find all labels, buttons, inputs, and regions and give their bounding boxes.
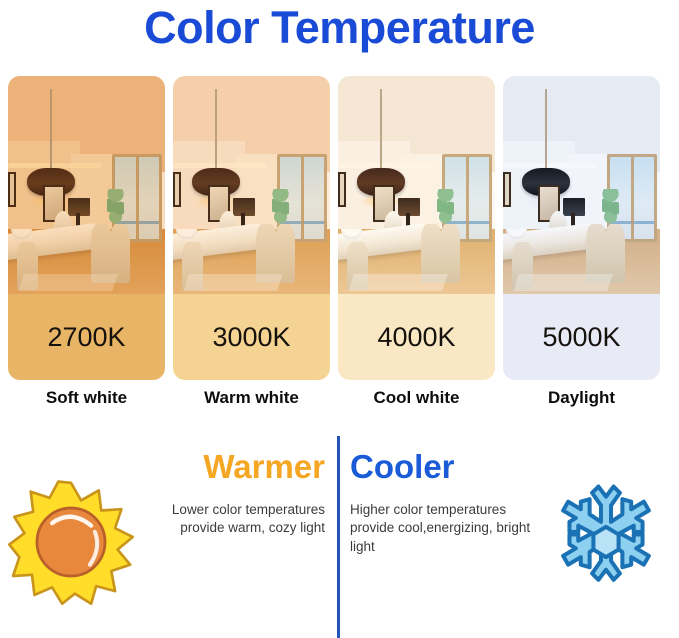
caption-warm-white: Warm white [173,388,330,418]
cooler-text-cell: Cooler Higher color temperatures provide… [340,432,535,638]
sun-icon-cell [0,432,142,638]
room-scene-2700k [8,76,165,294]
room-scene-5000k [503,76,660,294]
warmer-section: Warmer Lower color temperatures provide … [0,432,337,638]
warmer-text-cell: Warmer Lower color temperatures provide … [142,432,337,638]
temperature-panel-row: 2700K [8,76,671,380]
kelvin-label-3000k: 3000K [173,294,330,380]
room-scene-4000k [338,76,495,294]
warmer-heading: Warmer [142,450,325,485]
snowflake-icon-cell [535,432,677,638]
caption-row: Soft white Warm white Cool white Dayligh… [8,388,671,418]
temperature-panel-2700k[interactable]: 2700K [8,76,165,380]
warmer-description: Lower color temperatures provide warm, c… [142,501,325,538]
neutral-glow-overlay [338,76,495,294]
temperature-panel-4000k[interactable]: 4000K [338,76,495,380]
caption-daylight: Daylight [503,388,660,418]
sun-icon [8,479,134,605]
snowflake-icon [543,479,669,605]
page-title: Color Temperature [0,2,679,54]
cool-glow-overlay [503,76,660,294]
cooler-description: Higher color temperatures provide cool,e… [350,501,535,557]
warm-glow-overlay [173,76,330,294]
kelvin-label-2700k: 2700K [8,294,165,380]
cooler-section: Cooler Higher color temperatures provide… [340,432,677,638]
warm-glow-overlay [8,76,165,294]
kelvin-label-5000k: 5000K [503,294,660,380]
room-scene-3000k [173,76,330,294]
kelvin-label-4000k: 4000K [338,294,495,380]
caption-soft-white: Soft white [8,388,165,418]
cooler-heading: Cooler [350,450,535,485]
warmer-cooler-comparison: Warmer Lower color temperatures provide … [0,432,679,638]
temperature-panel-3000k[interactable]: 3000K [173,76,330,380]
temperature-panel-5000k[interactable]: 5000K [503,76,660,380]
caption-cool-white: Cool white [338,388,495,418]
color-temperature-infographic: Color Temperature [0,0,679,638]
